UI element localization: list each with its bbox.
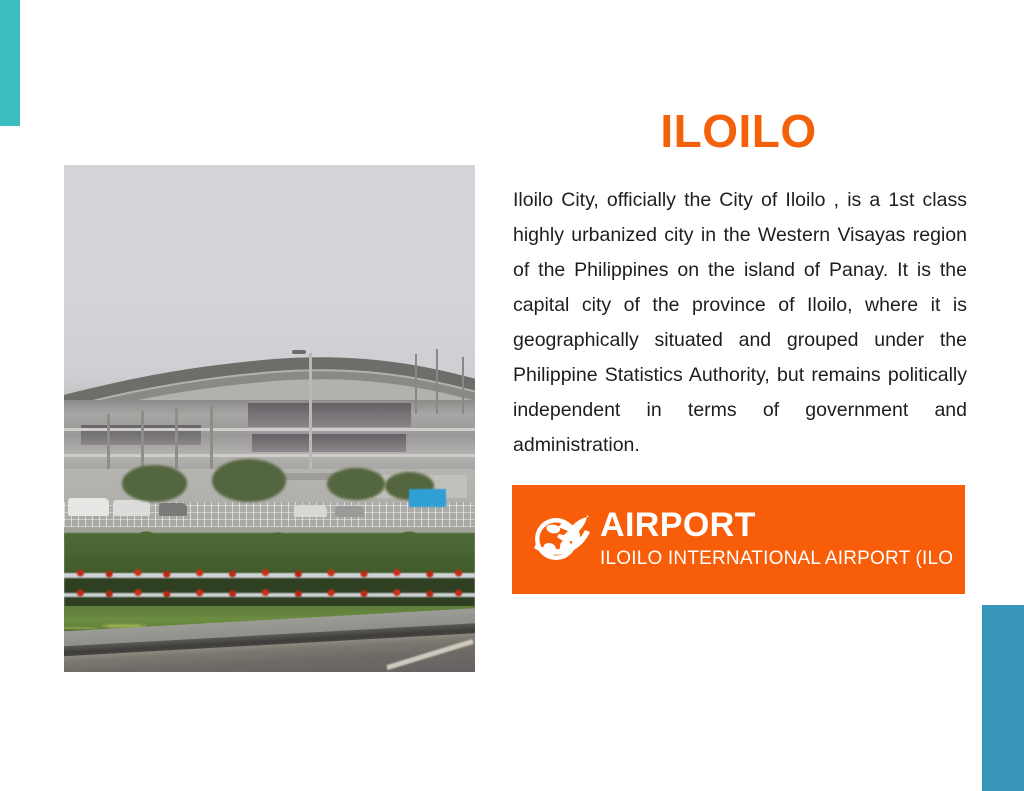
accent-bar-top-left <box>0 0 20 126</box>
globe-airplane-icon-svg <box>526 507 596 573</box>
city-description: Iloilo City, officially the City of Iloi… <box>513 183 967 463</box>
photo-scene <box>64 165 475 672</box>
terminal-floor-line <box>64 454 475 457</box>
antenna-mast <box>462 357 464 414</box>
banner-subtitle: ILOILO INTERNATIONAL AIRPORT (ILO <box>600 547 965 571</box>
parked-car <box>159 503 188 516</box>
street-lamp-head <box>292 350 306 354</box>
airport-banner[interactable]: AIRPORT ILOILO INTERNATIONAL AIRPORT (IL… <box>512 485 965 594</box>
tree <box>327 468 385 501</box>
street-lamp-post <box>309 353 312 475</box>
antenna-mast <box>436 349 438 414</box>
content-column: ILOILO Iloilo City, officially the City … <box>512 0 1024 791</box>
parked-car <box>113 500 150 516</box>
banner-title: AIRPORT <box>600 508 965 544</box>
terminal-glass <box>252 434 406 452</box>
terminal-glass <box>248 403 410 427</box>
blue-canopy <box>409 489 446 507</box>
globe-airplane-icon <box>524 507 598 573</box>
antenna-mast <box>415 354 417 414</box>
parked-car <box>68 498 109 516</box>
terminal-floor-line <box>64 428 475 431</box>
tree <box>212 459 286 502</box>
airport-photo <box>64 165 475 672</box>
parked-car <box>294 505 327 517</box>
tree <box>122 465 188 502</box>
banner-text-group: AIRPORT ILOILO INTERNATIONAL AIRPORT (IL… <box>598 508 965 570</box>
airport-terminal <box>64 337 475 479</box>
red-flower-row <box>64 568 475 578</box>
garden-hedge-back <box>64 533 475 574</box>
page-title: ILOILO <box>512 108 965 154</box>
parked-car <box>335 506 364 517</box>
